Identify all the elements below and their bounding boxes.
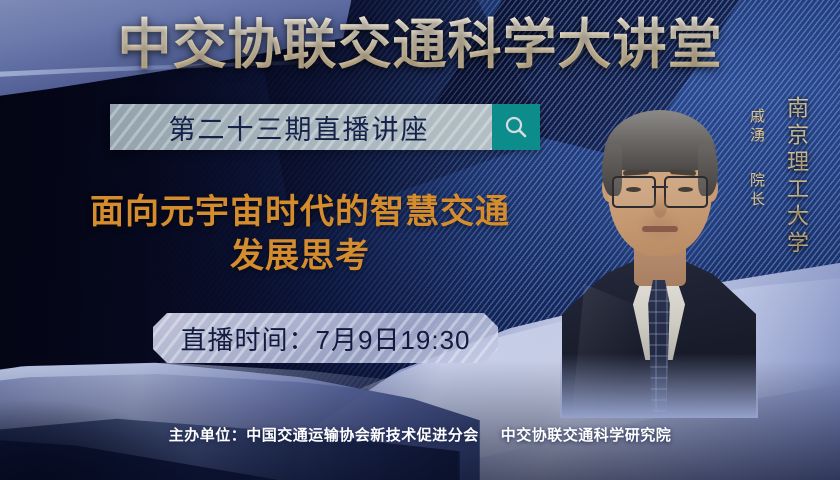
headline-line-1: 面向元宇宙时代的智慧交通 <box>90 193 510 231</box>
glasses-lens-left <box>612 176 656 208</box>
footer-organizers: 主办单位：中国交通运输协会新技术促进分会中交协联交通科学研究院 <box>0 424 840 445</box>
broadcast-time-label: 直播时间：7月9日19:30 <box>181 320 471 357</box>
headline-line-2: 发展思考 <box>40 234 560 278</box>
speaker-university: 南京理工大学 <box>780 96 812 258</box>
lecture-headline: 面向元宇宙时代的智慧交通 发展思考 <box>40 190 560 278</box>
search-icon <box>503 114 529 140</box>
footer-organizer: 主办单位：中国交通运输协会新技术促进分会 <box>169 427 479 444</box>
episode-bar-body: 第二十三期直播讲座 <box>110 104 492 150</box>
episode-bar: 第二十三期直播讲座 <box>110 104 540 150</box>
portrait-mouth <box>642 226 678 232</box>
portrait-bottom-fade <box>560 348 758 418</box>
footer-co-organizer: 中交协联交通科学研究院 <box>501 427 672 444</box>
speaker-name: 戚湧 <box>746 108 767 146</box>
search-button[interactable] <box>492 104 540 150</box>
broadcast-time-banner: 直播时间：7月9日19:30 <box>153 313 498 363</box>
main-title: 中交协联交通科学大讲堂 <box>0 14 840 76</box>
glasses-lens-right <box>664 176 708 208</box>
speaker-role: 院长 <box>746 172 767 210</box>
episode-label: 第二十三期直播讲座 <box>169 108 434 147</box>
live-lecture-poster: 中交协联交通科学大讲堂 第二十三期直播讲座 面向元宇宙时代的智慧交通 发展思考 … <box>0 0 840 480</box>
portrait-nose <box>653 194 667 218</box>
speaker-portrait <box>560 88 758 418</box>
